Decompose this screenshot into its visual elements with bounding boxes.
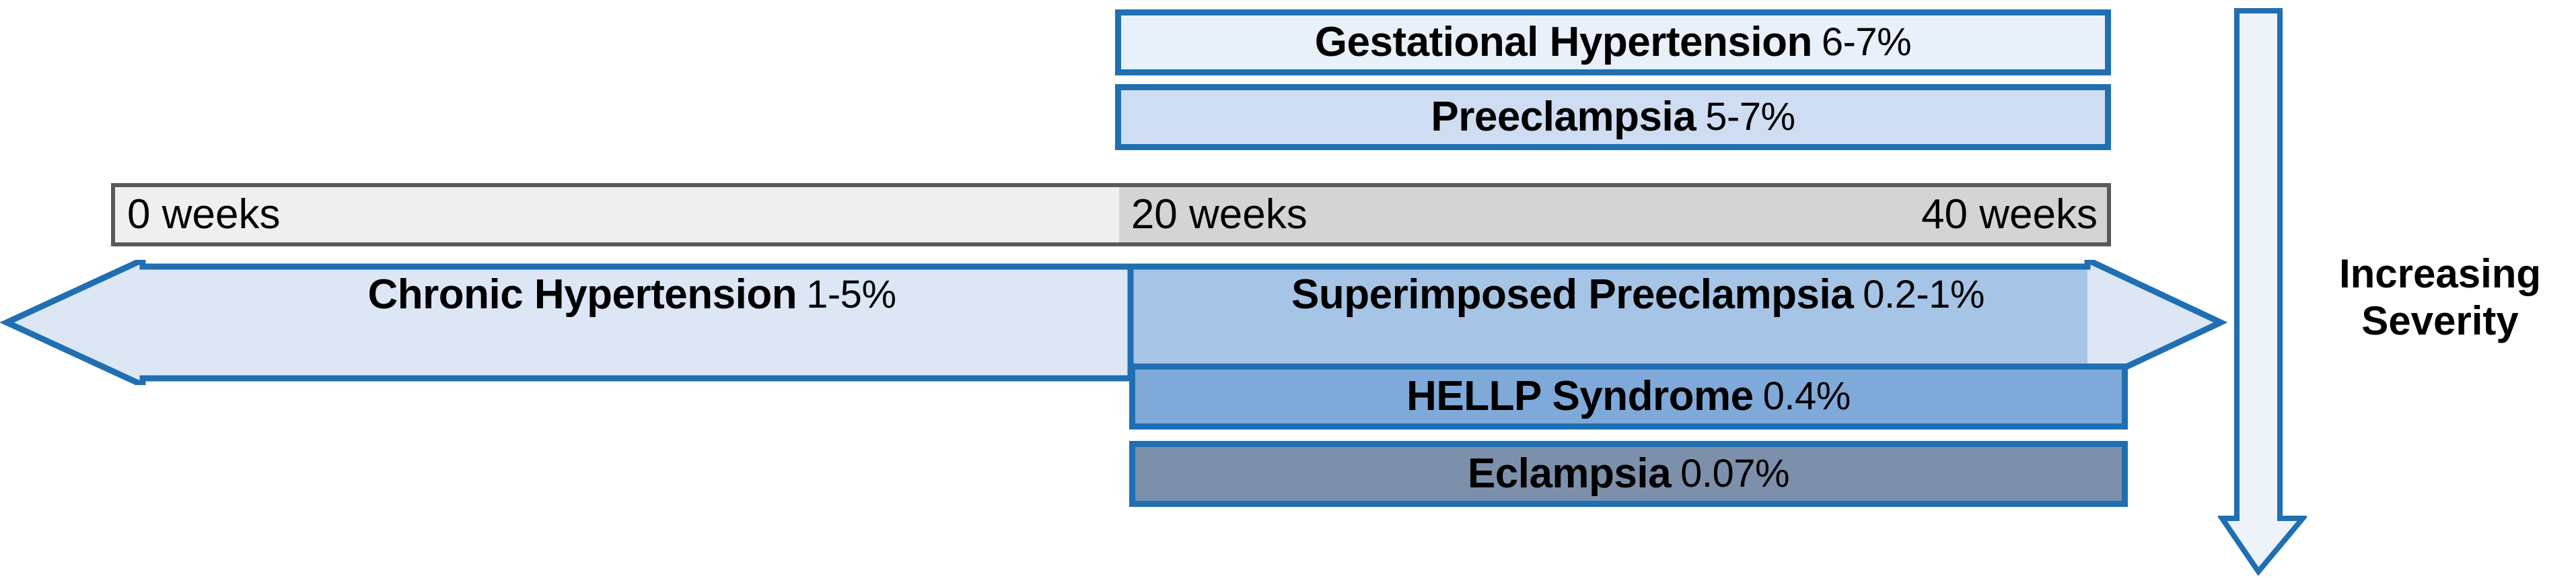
timeline-label-end: 40 weeks (1921, 194, 2098, 236)
severity-line-2: Severity (2315, 298, 2565, 345)
timeline-label-mid: 20 weeks (1131, 194, 1308, 236)
bar-label-gestational-hypertension: Gestational Hypertension (1315, 22, 1812, 63)
bar-gestational-hypertension: Gestational Hypertension 6-7% (1115, 9, 2111, 75)
bar-percent-chronic-hypertension: 1-5% (806, 275, 896, 314)
bar-percent-eclampsia: 0.07% (1680, 454, 1789, 493)
bar-hellp-syndrome: HELLP Syndrome 0.4% (1129, 364, 2128, 429)
arrow-segment-superimposed-preeclampsia: Superimposed Preeclampsia 0.2-1% (1121, 267, 2155, 323)
gestational-timeline: 0 weeks 20 weeks 40 weeks (111, 183, 2111, 246)
double-arrow-label-row: Chronic Hypertension 1-5% Superimposed P… (143, 267, 2155, 323)
hypertensive-disorders-diagram: Gestational Hypertension 6-7% Preeclamps… (0, 0, 2576, 585)
severity-line-1: Increasing (2315, 250, 2565, 298)
bar-eclampsia: Eclampsia 0.07% (1129, 441, 2128, 507)
bar-label-superimposed-preeclampsia: Superimposed Preeclampsia (1291, 274, 1853, 316)
bar-label-chronic-hypertension: Chronic Hypertension (367, 274, 797, 316)
increasing-severity-label: Increasing Severity (2315, 250, 2565, 344)
timeline-segment-late: 20 weeks 40 weeks (1119, 187, 2107, 242)
bar-label-hellp-syndrome: HELLP Syndrome (1406, 376, 1754, 417)
bar-preeclampsia: Preeclampsia 5-7% (1115, 84, 2111, 150)
bar-percent-hellp-syndrome: 0.4% (1763, 377, 1851, 416)
bar-label-preeclampsia: Preeclampsia (1431, 96, 1696, 138)
bar-percent-preeclampsia: 5-7% (1705, 98, 1795, 137)
bar-percent-superimposed-preeclampsia: 0.2-1% (1863, 275, 1984, 314)
arrow-segment-chronic-hypertension: Chronic Hypertension 1-5% (143, 267, 1121, 323)
bar-label-eclampsia: Eclampsia (1468, 453, 1671, 495)
bar-percent-gestational-hypertension: 6-7% (1822, 23, 1911, 62)
timeline-label-start: 0 weeks (127, 194, 280, 236)
increasing-severity-arrow-icon (2218, 7, 2307, 576)
timeline-segment-early: 0 weeks (115, 187, 1119, 242)
